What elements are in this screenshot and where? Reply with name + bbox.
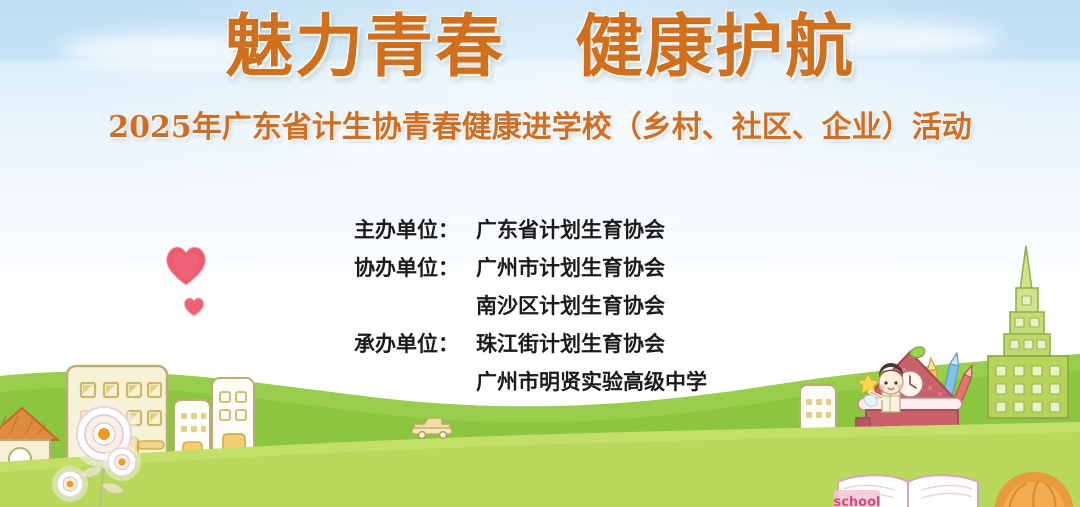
main-title: 魅力青春 健康护航 bbox=[0, 8, 1080, 88]
daisy-flower-small-left bbox=[48, 462, 98, 507]
organizer-block: 主办单位： 广东省计划生育协会 协办单位： 广州市计划生育协会 南沙区计划生育协… bbox=[0, 214, 1080, 404]
organizer-row-2: 协办单位： 广州市计划生育协会 bbox=[0, 252, 1080, 290]
organizer-row-3: 南沙区计划生育协会 bbox=[0, 290, 1080, 328]
yellow-car bbox=[410, 414, 454, 440]
organizer-value-1: 广东省计划生育协会 bbox=[476, 214, 726, 244]
organizer-value-4: 珠江街计划生育协会 bbox=[476, 328, 726, 358]
organizer-row-4: 承办单位： 珠江街计划生育协会 bbox=[0, 328, 1080, 366]
organizer-row-1: 主办单位： 广东省计划生育协会 bbox=[0, 214, 1080, 252]
organizer-label-2: 协办单位： bbox=[354, 252, 476, 282]
sub-title: 2025年广东省计生协青春健康进学校（乡村、社区、企业）活动 bbox=[0, 102, 1080, 146]
organizer-label-1: 主办单位： bbox=[354, 214, 476, 244]
orange-haired-child bbox=[988, 470, 1080, 507]
book-label: school bbox=[833, 495, 880, 507]
organizer-value-5: 广州市明贤实验高级中学 bbox=[476, 366, 726, 396]
organizer-value-3: 南沙区计划生育协会 bbox=[476, 290, 726, 320]
open-book: school bbox=[830, 472, 990, 507]
organizer-value-2: 广州市计划生育协会 bbox=[476, 252, 726, 282]
organizer-label-4: 承办单位： bbox=[354, 328, 476, 358]
daisy-flower-small-right bbox=[98, 440, 150, 488]
title-block: 魅力青春 健康护航 2025年广东省计生协青春健康进学校（乡村、社区、企业）活动 bbox=[0, 8, 1080, 146]
poster-canvas: school 魅力青春 健康护航 2025年广东省计生协青春健康进学校（乡村、社… bbox=[0, 0, 1080, 507]
organizer-row-5: 广州市明贤实验高级中学 bbox=[0, 366, 1080, 404]
